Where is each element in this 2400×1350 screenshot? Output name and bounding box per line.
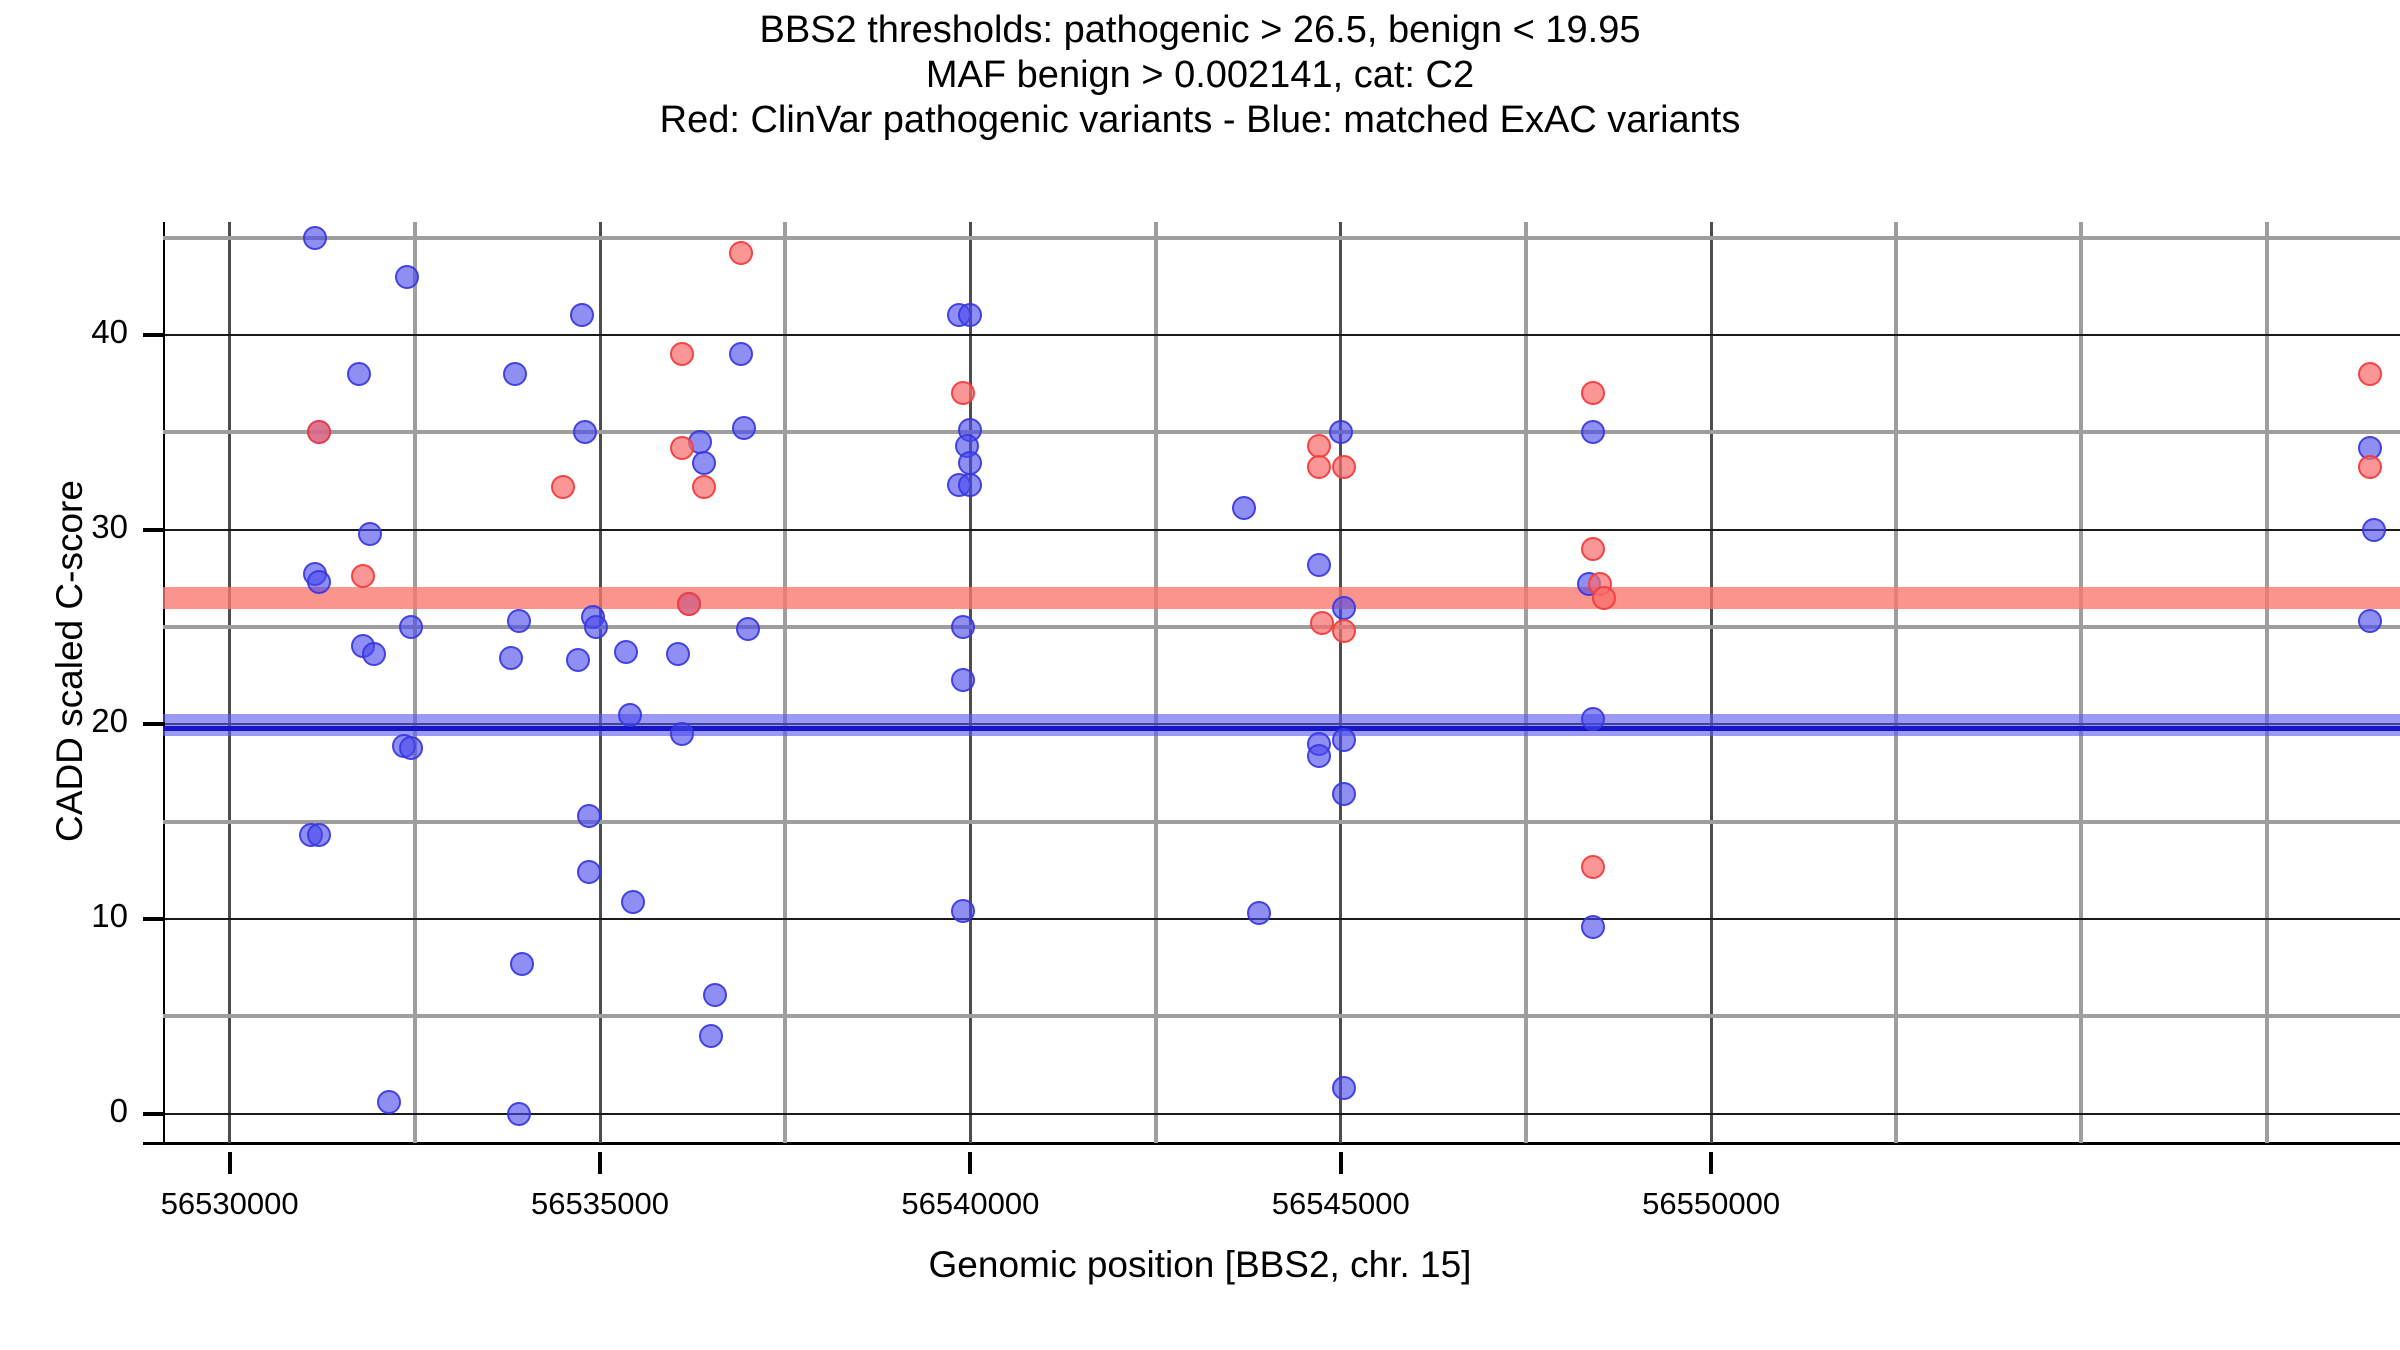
clinvar-pathogenic-point	[551, 475, 575, 499]
benign-threshold-line	[163, 726, 2400, 731]
exac-variant-point	[399, 615, 423, 639]
x-axis-tick-label: 56530000	[80, 1186, 380, 1222]
gridline-y-major	[163, 529, 2400, 531]
gridline-x-major	[228, 222, 231, 1143]
gridline-y-major	[163, 334, 2400, 336]
exac-variant-point	[303, 226, 327, 250]
y-axis-line	[163, 222, 165, 1143]
clinvar-pathogenic-point	[729, 241, 753, 265]
exac-variant-point	[621, 890, 645, 914]
exac-variant-point	[566, 648, 590, 672]
exac-variant-point	[507, 609, 531, 633]
x-axis-tick	[1709, 1152, 1713, 1174]
gridline-x-minor	[2265, 222, 2269, 1143]
pathogenic-threshold-band	[163, 587, 2400, 609]
gridline-x-minor	[2079, 222, 2083, 1143]
x-axis-tick-label: 56540000	[820, 1186, 1120, 1222]
gridline-x-minor	[1154, 222, 1158, 1143]
gridline-y-major	[163, 918, 2400, 920]
gridline-y-minor	[163, 1014, 2400, 1018]
clinvar-pathogenic-point	[692, 475, 716, 499]
title-line-1: BBS2 thresholds: pathogenic > 26.5, beni…	[0, 8, 2400, 53]
exac-variant-point	[670, 722, 694, 746]
exac-variant-point	[951, 668, 975, 692]
y-axis-tick	[143, 333, 165, 337]
clinvar-pathogenic-point	[1581, 855, 1605, 879]
gridline-y-major	[163, 1113, 2400, 1115]
title-line-2: MAF benign > 0.002141, cat: C2	[0, 53, 2400, 98]
clinvar-pathogenic-point	[307, 420, 331, 444]
exac-variant-point	[1307, 553, 1331, 577]
exac-variant-point	[618, 703, 642, 727]
x-axis-tick-label: 56550000	[1561, 1186, 1861, 1222]
x-axis-title: Genomic position [BBS2, chr. 15]	[0, 1244, 2400, 1286]
clinvar-pathogenic-point	[1592, 586, 1616, 610]
x-axis-tick-label: 56535000	[450, 1186, 750, 1222]
title-line-3: Red: ClinVar pathogenic variants - Blue:…	[0, 98, 2400, 143]
gridline-y-minor	[163, 236, 2400, 240]
exac-variant-point	[577, 804, 601, 828]
exac-variant-point	[699, 1024, 723, 1048]
exac-variant-point	[347, 362, 371, 386]
exac-variant-point	[666, 642, 690, 666]
exac-variant-point	[951, 615, 975, 639]
clinvar-pathogenic-point	[1581, 537, 1605, 561]
gridline-x-minor	[413, 222, 417, 1143]
chart-root: BBS2 thresholds: pathogenic > 26.5, beni…	[0, 0, 2400, 1350]
exac-variant-point	[1307, 744, 1331, 768]
x-axis-tick	[228, 1152, 232, 1174]
exac-variant-point	[1581, 420, 1605, 444]
exac-variant-point	[503, 362, 527, 386]
exac-variant-point	[399, 736, 423, 760]
exac-variant-point	[307, 570, 331, 594]
clinvar-pathogenic-point	[670, 436, 694, 460]
clinvar-pathogenic-point	[1307, 434, 1331, 458]
exac-variant-point	[510, 952, 534, 976]
y-axis-tick	[143, 722, 165, 726]
exac-variant-point	[2362, 518, 2386, 542]
clinvar-pathogenic-point	[1581, 381, 1605, 405]
x-axis-tick	[598, 1152, 602, 1174]
exac-variant-point	[307, 823, 331, 847]
gridline-x-minor	[1524, 222, 1528, 1143]
chart-title-block: BBS2 thresholds: pathogenic > 26.5, beni…	[0, 8, 2400, 143]
exac-variant-point	[507, 1102, 531, 1126]
exac-variant-point	[358, 522, 382, 546]
gridline-x-major	[1339, 222, 1342, 1143]
x-axis-tick-label: 56545000	[1191, 1186, 1491, 1222]
gridline-x-minor	[1894, 222, 1898, 1143]
clinvar-pathogenic-point	[677, 592, 701, 616]
exac-variant-point	[729, 342, 753, 366]
y-axis-tick	[143, 1112, 165, 1116]
x-axis-tick	[1339, 1152, 1343, 1174]
gridline-y-minor	[163, 430, 2400, 434]
clinvar-pathogenic-point	[1307, 455, 1331, 479]
exac-variant-point	[736, 617, 760, 641]
gridline-y-minor	[163, 625, 2400, 629]
plot-panel	[163, 222, 2400, 1143]
exac-variant-point	[395, 265, 419, 289]
exac-variant-point	[1332, 596, 1356, 620]
exac-variant-point	[1581, 915, 1605, 939]
benign-threshold-band	[163, 714, 2400, 736]
exac-variant-point	[1581, 707, 1605, 731]
y-axis-title: CADD scaled C-score	[49, 211, 91, 1111]
gridline-y-minor	[163, 820, 2400, 824]
y-axis-tick	[143, 917, 165, 921]
clinvar-pathogenic-point	[670, 342, 694, 366]
y-axis-tick	[143, 528, 165, 532]
gridline-x-major	[599, 222, 602, 1143]
gridline-x-major	[1710, 222, 1713, 1143]
x-axis-tick	[968, 1152, 972, 1174]
gridline-x-minor	[783, 222, 787, 1143]
exac-variant-point	[377, 1090, 401, 1114]
exac-variant-point	[1329, 420, 1353, 444]
exac-variant-point	[692, 451, 716, 475]
exac-variant-point	[703, 983, 727, 1007]
x-axis-line	[143, 1142, 2400, 1145]
exac-variant-point	[570, 303, 594, 327]
